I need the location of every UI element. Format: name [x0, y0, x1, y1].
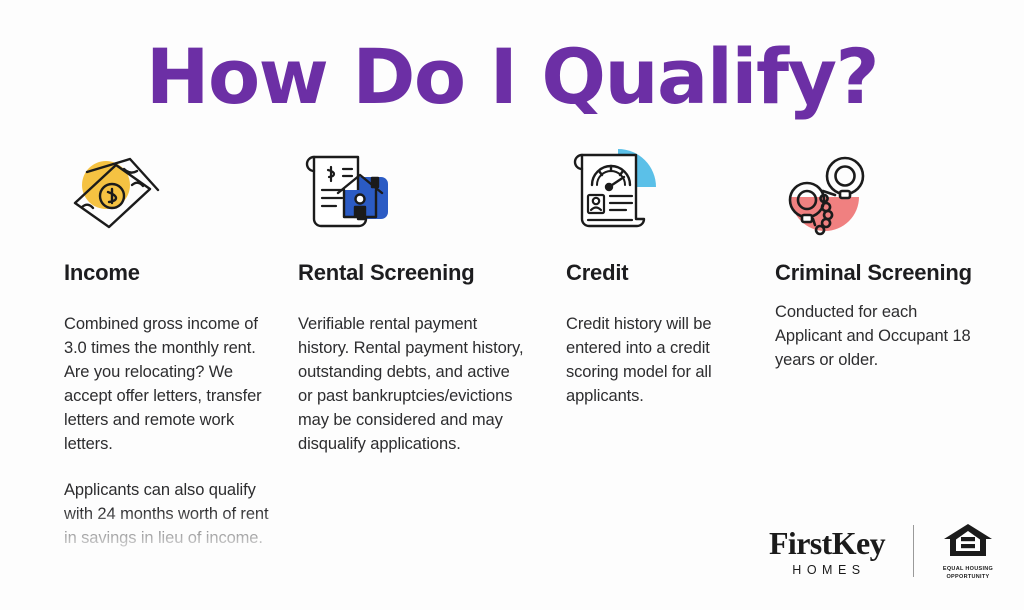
column-body-income: Combined gross income of 3.0 times the m…	[64, 312, 276, 550]
income-paragraph-2-wrapper: Applicants can also qualify with 24 mont…	[64, 478, 276, 550]
handcuffs-icon	[775, 145, 885, 237]
cash-money-icon	[64, 145, 174, 237]
page-title: How Do I Qualify?	[0, 34, 1024, 120]
credit-paragraph-1: Credit history will be entered into a cr…	[566, 312, 746, 408]
column-heading-credit: Credit	[566, 259, 746, 286]
income-paragraph-2: Applicants can also qualify with 24 mont…	[64, 478, 276, 550]
rental-screening-paragraph-1: Verifiable rental payment history. Renta…	[298, 312, 528, 456]
criteria-column-income: Income Combined gross income of 3.0 time…	[64, 145, 276, 572]
infographic-page: How Do I Qualify? Incom	[0, 0, 1024, 610]
eho-caption-line-2: OPPORTUNITY	[942, 574, 994, 581]
criteria-column-rental-screening: Rental Screening Verifiable rental payme…	[298, 145, 528, 456]
column-body-rental-screening: Verifiable rental payment history. Renta…	[298, 312, 528, 456]
rental-document-house-icon	[298, 145, 408, 237]
criteria-column-credit: Credit Credit history will be entered in…	[566, 145, 746, 408]
criminal-screening-paragraph-1: Conducted for each Applicant and Occupan…	[775, 300, 985, 372]
equal-housing-house-icon	[942, 522, 994, 560]
firstkey-wordmark: FirstKey	[769, 526, 885, 560]
column-body-credit: Credit history will be entered into a cr…	[566, 312, 746, 408]
column-heading-rental-screening: Rental Screening	[298, 259, 528, 286]
qualification-criteria-columns: Income Combined gross income of 3.0 time…	[0, 145, 1024, 585]
homes-wordmark: HOMES	[769, 563, 885, 577]
column-heading-income: Income	[64, 259, 276, 286]
credit-report-gauge-icon	[566, 145, 676, 237]
criteria-column-criminal-screening: Criminal Screening Conducted for each Ap…	[775, 145, 985, 372]
column-heading-criminal-screening: Criminal Screening	[775, 259, 985, 286]
equal-housing-opportunity-logo: EQUAL HOUSING OPPORTUNITY	[914, 522, 994, 581]
column-body-criminal-screening: Conducted for each Applicant and Occupan…	[775, 300, 985, 372]
footer-logos: FirstKey HOMES EQUAL HOUSING OPPORTUNITY	[769, 520, 994, 582]
income-paragraph-1: Combined gross income of 3.0 times the m…	[64, 312, 276, 456]
firstkey-homes-logo: FirstKey HOMES	[769, 526, 913, 577]
eho-caption-line-1: EQUAL HOUSING	[942, 566, 994, 573]
